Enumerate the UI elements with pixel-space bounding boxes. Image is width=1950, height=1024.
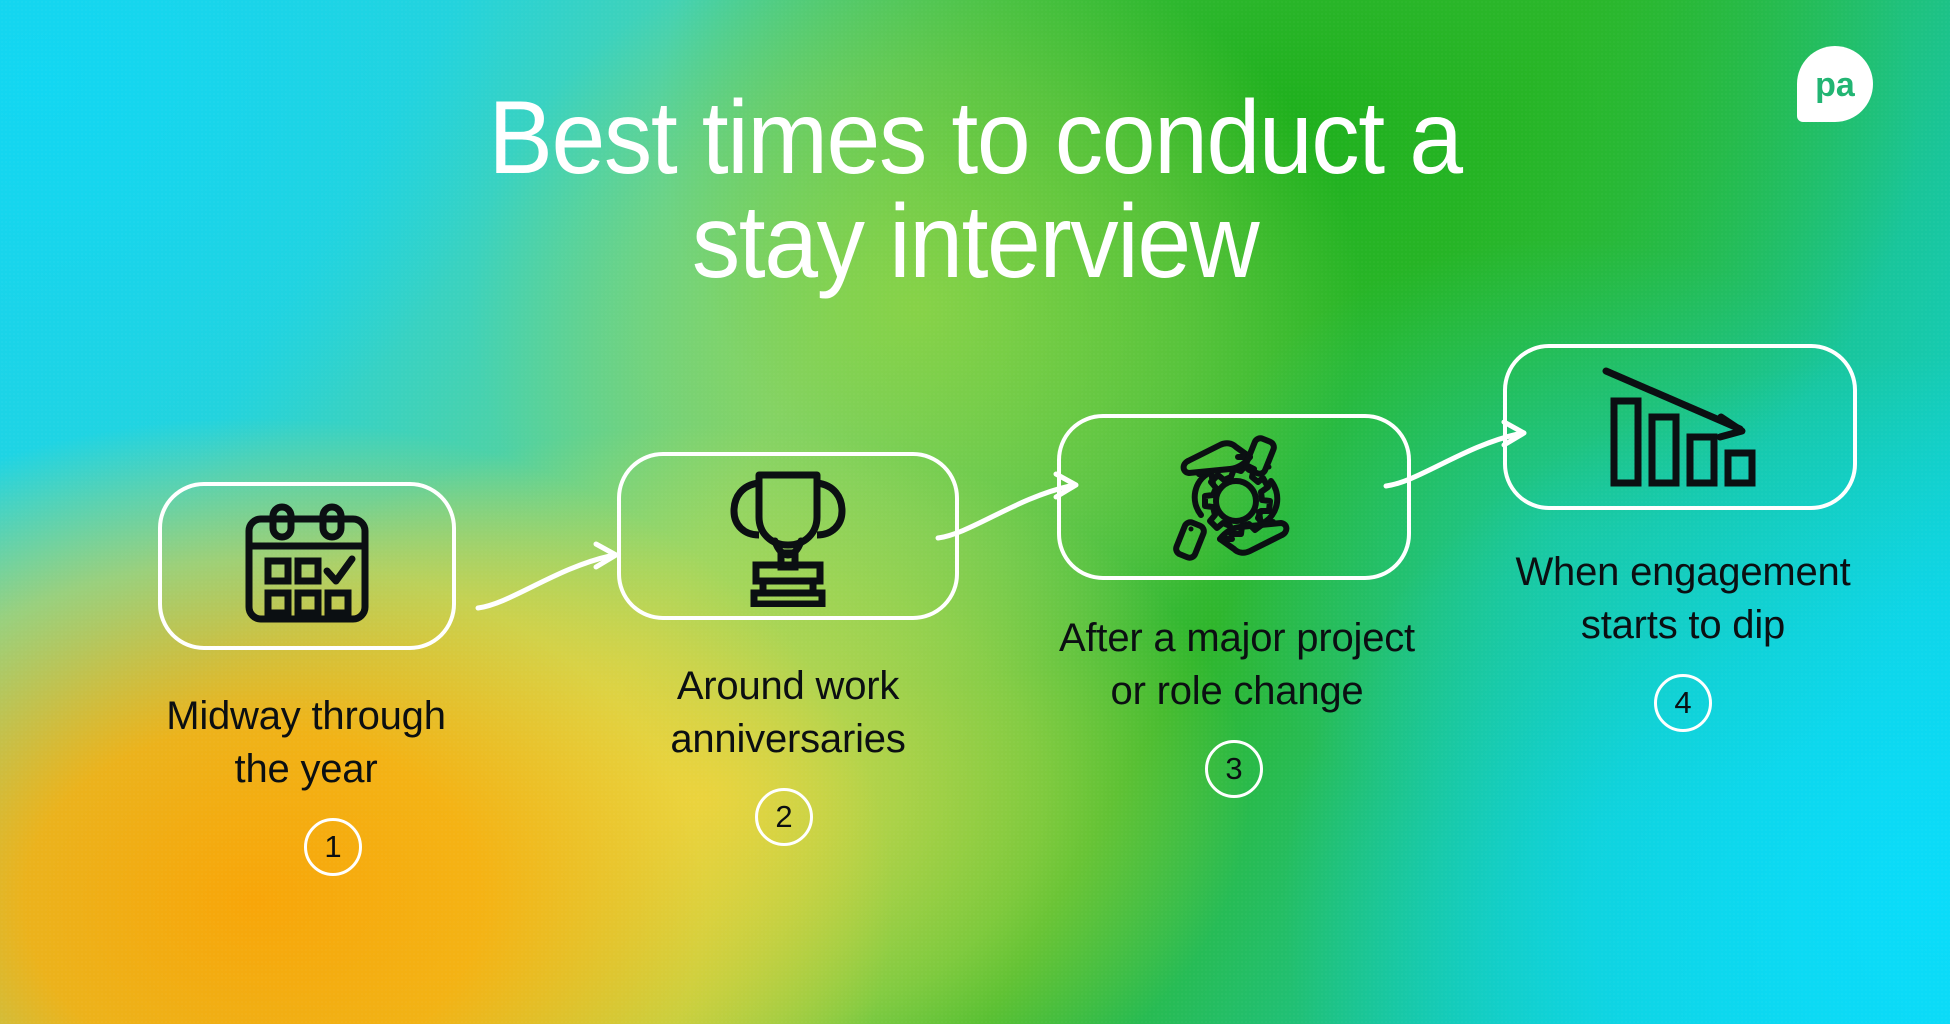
gear-in-hands-cycle-icon xyxy=(1154,431,1314,563)
title-line-2: stay interview xyxy=(68,190,1882,294)
title-line-1: Best times to conduct a xyxy=(488,80,1461,196)
arrow-step1-to-step2 xyxy=(470,500,640,625)
calendar-check-icon xyxy=(240,503,374,629)
declining-bar-chart-icon xyxy=(1600,361,1760,493)
step-3-card[interactable] xyxy=(1057,414,1411,580)
step-4-caption: When engagement starts to dip xyxy=(1478,546,1888,652)
step-1-caption: Midway through the year xyxy=(106,690,506,796)
step-2-number: 2 xyxy=(755,788,813,846)
step-1-card[interactable] xyxy=(158,482,456,650)
step-2-caption: Around work anniversaries xyxy=(588,660,988,766)
trophy-icon xyxy=(726,465,850,607)
step-1-number: 1 xyxy=(304,818,362,876)
step-3-caption: After a major project or role change xyxy=(1012,612,1462,718)
step-3-number: 3 xyxy=(1205,740,1263,798)
step-2-card[interactable] xyxy=(617,452,959,620)
page-title: Best times to conduct a stay interview xyxy=(68,86,1882,294)
infographic-canvas: pa Best times to conduct a stay intervie… xyxy=(0,0,1950,1024)
step-4-card[interactable] xyxy=(1503,344,1857,510)
step-4-number: 4 xyxy=(1654,674,1712,732)
